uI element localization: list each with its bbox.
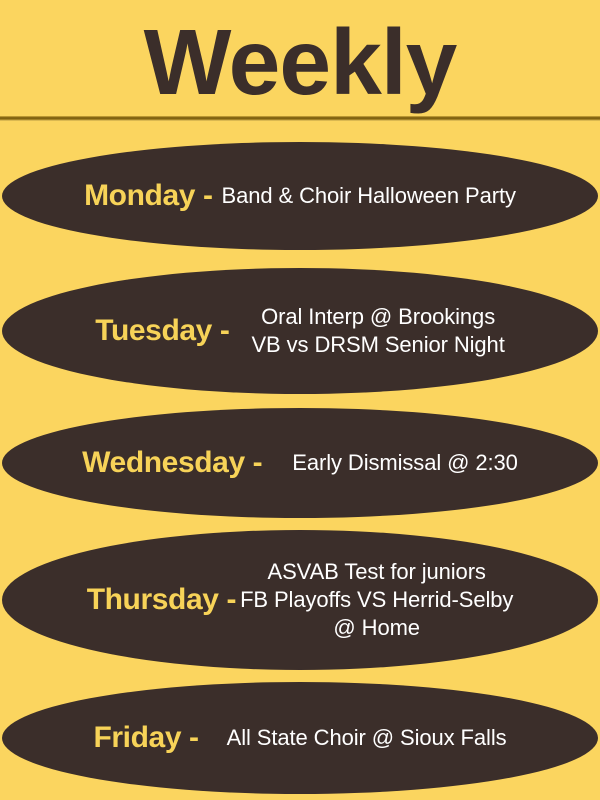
day-label-tuesday: Tuesday -	[95, 315, 229, 347]
schedule-row-monday: Monday - Band & Choir Halloween Party	[2, 142, 598, 250]
event-list-monday: Band & Choir Halloween Party	[222, 182, 516, 210]
event-item: All State Choir @ Sioux Falls	[227, 724, 507, 752]
day-label-thursday: Thursday -	[87, 584, 236, 616]
event-item: Early Dismissal @ 2:30	[292, 449, 518, 477]
event-item: FB Playoffs VS Herrid-Selby	[240, 586, 513, 614]
schedule-row-thursday: Thursday - ASVAB Test for juniors FB Pla…	[2, 530, 598, 670]
event-list-friday: All State Choir @ Sioux Falls	[227, 724, 507, 752]
day-label-wednesday: Wednesday -	[82, 447, 262, 479]
event-item: Band & Choir Halloween Party	[222, 182, 516, 210]
page-title: Weekly	[0, 12, 600, 112]
event-list-thursday: ASVAB Test for juniors FB Playoffs VS He…	[240, 558, 513, 642]
event-item: @ Home	[240, 614, 513, 642]
event-item: ASVAB Test for juniors	[240, 558, 513, 586]
schedule-row-tuesday: Tuesday - Oral Interp @ Brookings VB vs …	[2, 268, 598, 394]
event-item: Oral Interp @ Brookings	[251, 303, 504, 331]
poster-header: Weekly	[0, 0, 600, 120]
event-list-wednesday: Early Dismissal @ 2:30	[292, 449, 518, 477]
day-label-friday: Friday -	[93, 722, 198, 754]
schedule-list: Monday - Band & Choir Halloween Party Tu…	[0, 120, 600, 800]
schedule-row-friday: Friday - All State Choir @ Sioux Falls	[2, 682, 598, 794]
day-label-monday: Monday -	[84, 180, 212, 212]
event-item: VB vs DRSM Senior Night	[251, 331, 504, 359]
event-list-tuesday: Oral Interp @ Brookings VB vs DRSM Senio…	[251, 303, 504, 359]
schedule-row-wednesday: Wednesday - Early Dismissal @ 2:30	[2, 408, 598, 518]
weekly-schedule-poster: Weekly Monday - Band & Choir Halloween P…	[0, 0, 600, 800]
